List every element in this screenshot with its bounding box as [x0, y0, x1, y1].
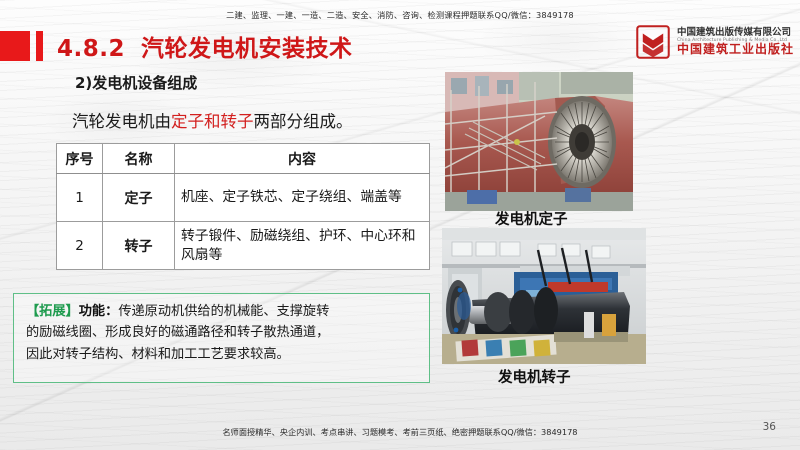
- stator-photo-caption: 发电机定子: [495, 208, 568, 229]
- slide-title-row: 4.8.2汽轮发电机安装技术: [0, 27, 353, 65]
- table-header-no: 序号: [57, 144, 103, 174]
- page-title: 4.8.2汽轮发电机安装技术: [57, 29, 353, 63]
- title-section-number: 4.8.2: [57, 36, 125, 62]
- lead-text-after: 两部分组成。: [254, 112, 353, 131]
- extension-note-box: 【拓展】功能：传递原动机供给的机械能、支撑旋转 的励磁线圈、形成良好的磁通路径和…: [13, 293, 430, 383]
- logo-company-cn: 中国建筑出版传媒有限公司: [677, 27, 794, 38]
- extension-line-2: 的励磁线圈、形成良好的磁通路径和转子散热通道，: [26, 322, 419, 343]
- stator-photo-graphic: [445, 72, 633, 211]
- row-2-no: 2: [57, 222, 103, 270]
- rotor-photo-graphic: [442, 228, 646, 364]
- title-section-text: 汽轮发电机安装技术: [141, 36, 353, 62]
- publisher-emblem-icon: [636, 25, 670, 59]
- lead-text-before: 汽轮发电机由: [72, 112, 171, 131]
- row-2-content: 转子锻件、励磁绕组、护环、中心环和风扇等: [175, 222, 430, 270]
- extension-line-1: 【拓展】功能：传递原动机供给的机械能、支撑旋转: [26, 301, 419, 322]
- generator-stator-photo: [445, 72, 633, 211]
- table-row: 2 转子 转子锻件、励磁绕组、护环、中心环和风扇等: [57, 222, 430, 270]
- footer-promo-note: 名师面授精华、央企内训、考点串讲、习题模考、考前三页纸、绝密押题联系QQ/微信：…: [0, 426, 800, 438]
- row-1-name: 定子: [103, 174, 175, 222]
- page-number: 36: [763, 421, 776, 433]
- table-row: 1 定子 机座、定子铁芯、定子绕组、端盖等: [57, 174, 430, 222]
- extension-line-3: 因此对转子结构、材料和加工工艺要求较高。: [26, 344, 419, 365]
- publisher-logo: 中国建筑出版传媒有限公司 China Architecture Publishi…: [636, 25, 794, 59]
- title-red-bar-icon: [36, 31, 43, 61]
- rotor-photo-caption: 发电机转子: [498, 366, 571, 387]
- table-header-content: 内容: [175, 144, 430, 174]
- extension-label: 功能：: [79, 304, 119, 319]
- table-header-name: 名称: [103, 144, 175, 174]
- row-1-no: 1: [57, 174, 103, 222]
- title-red-block-icon: [0, 31, 30, 61]
- lead-text-highlight: 定子和转子: [171, 112, 254, 131]
- generator-rotor-photo: [442, 228, 646, 364]
- top-promo-banner: 二建、监理、一建、一造、二造、安全、消防、咨询、检测课程押题联系QQ/微信：38…: [0, 9, 800, 21]
- components-table: 序号 名称 内容 1 定子 机座、定子铁芯、定子绕组、端盖等 2 转子 转子锻件…: [56, 143, 430, 270]
- extension-text-1: 传递原动机供给的机械能、支撑旋转: [118, 304, 329, 319]
- row-1-content: 机座、定子铁芯、定子绕组、端盖等: [175, 174, 430, 222]
- section-subheading: 2)发电机设备组成: [75, 72, 197, 93]
- lead-sentence: 汽轮发电机由定子和转子两部分组成。: [72, 108, 353, 132]
- logo-press-cn: 中国建筑工业出版社: [677, 43, 794, 57]
- row-2-name: 转子: [103, 222, 175, 270]
- extension-tag: 【拓展】: [26, 304, 79, 319]
- table-header-row: 序号 名称 内容: [57, 144, 430, 174]
